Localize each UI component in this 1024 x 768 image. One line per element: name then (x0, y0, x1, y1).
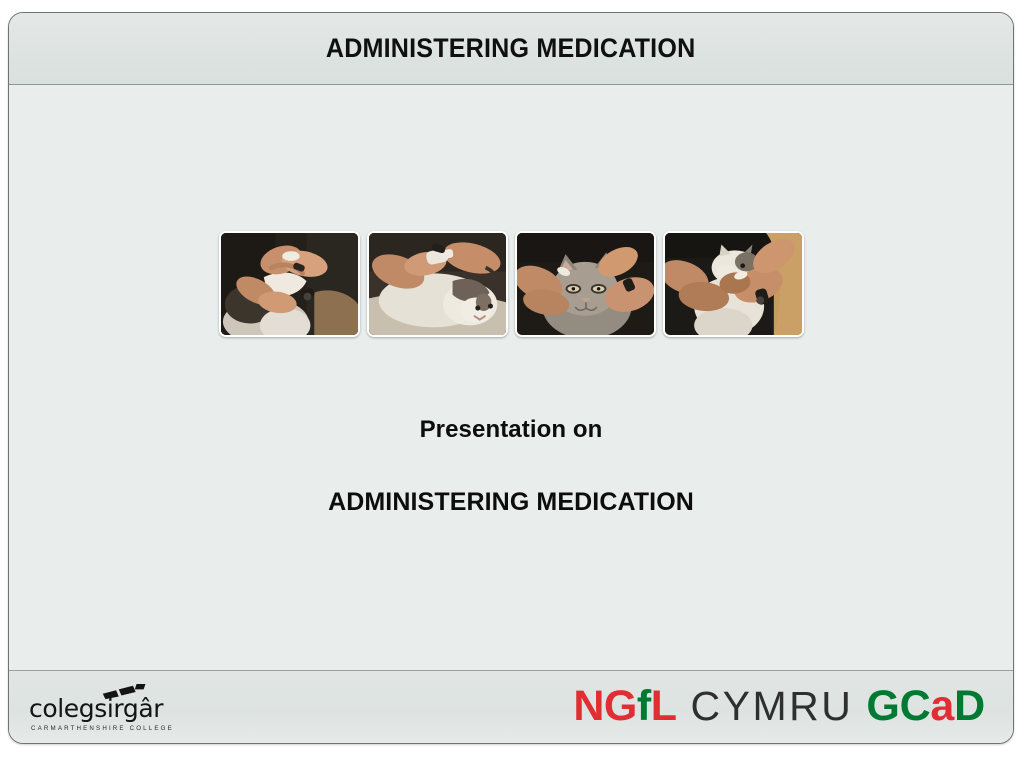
photo-strip (9, 231, 1013, 337)
page-title: ADMINISTERING MEDICATION (326, 33, 695, 64)
cat-medication-photo-3 (515, 231, 656, 337)
subject-line: ADMINISTERING MEDICATION (9, 488, 1013, 517)
cat-medication-photo-4 (663, 231, 804, 337)
ngfl-wordmark: NGfL (573, 682, 676, 731)
college-subline: CARMARTHENSHIRE COLLEGE (31, 725, 174, 732)
center-text-block: Presentation on ADMINISTERING MEDICATION (9, 416, 1013, 517)
gcad-wordmark: GCaD (866, 682, 985, 731)
presentation-on-line: Presentation on (9, 416, 1013, 444)
ngfl-cymru-gcad-logo: NGfL CYMRU GCaD (573, 682, 985, 731)
slide-body: Presentation on ADMINISTERING MEDICATION (9, 86, 1013, 672)
college-wordmark: colegsirgâr (29, 696, 163, 721)
cymru-wordmark: CYMRU (676, 683, 866, 730)
cat-medication-photo-2 (367, 231, 508, 337)
slide: ADMINISTERING MEDICATION (8, 12, 1014, 744)
cat-medication-photo-1 (219, 231, 360, 337)
coleg-sir-gar-logo: colegsirgâr CARMARTHENSHIRE COLLEGE (29, 684, 174, 732)
slide-footer: colegsirgâr CARMARTHENSHIRE COLLEGE NGfL… (9, 670, 1013, 743)
slide-header: ADMINISTERING MEDICATION (9, 13, 1013, 85)
